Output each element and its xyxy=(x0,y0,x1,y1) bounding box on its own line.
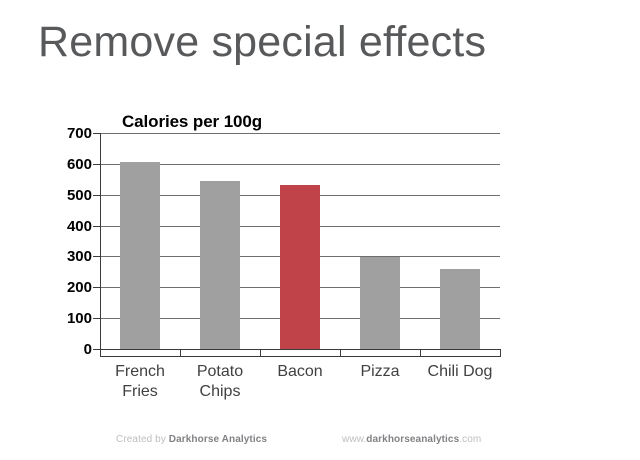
y-axis-tick-label: 600 xyxy=(46,157,92,172)
x-axis-tick xyxy=(100,349,101,357)
x-axis-tick xyxy=(180,349,181,357)
x-axis-tick xyxy=(260,349,261,357)
footer-credit-prefix: Created by xyxy=(116,434,169,445)
footer-credit-brand: Darkhorse Analytics xyxy=(169,434,267,445)
y-axis-tick-label: 700 xyxy=(46,126,92,141)
y-axis-tick-label: 200 xyxy=(46,280,92,295)
bar-series xyxy=(100,133,500,349)
footer-website-suffix: .com xyxy=(459,434,481,445)
x-axis-tick xyxy=(500,349,501,357)
footer-credit: Created by Darkhorse Analytics xyxy=(116,434,267,445)
chart-title: Calories per 100g xyxy=(122,112,262,132)
bar-bacon xyxy=(280,185,320,349)
y-axis-tick-label: 0 xyxy=(46,342,92,357)
bar-french-fries xyxy=(120,162,160,349)
x-axis-labels: FrenchFriesPotatoChipsBaconPizzaChili Do… xyxy=(100,362,500,412)
footer-website-prefix: www. xyxy=(342,434,366,445)
y-axis-tick-label: 300 xyxy=(46,249,92,264)
x-axis-label-potato-chips: PotatoChips xyxy=(180,362,260,402)
bar-chili-dog xyxy=(440,269,480,349)
x-axis-tick xyxy=(340,349,341,357)
y-axis-labels: 0100200300400500600700 xyxy=(46,133,92,349)
bar-potato-chips xyxy=(200,181,240,349)
x-axis-label-bacon: Bacon xyxy=(260,362,340,382)
y-axis-tick-label: 100 xyxy=(46,311,92,326)
y-axis-tick-label: 400 xyxy=(46,219,92,234)
footer-website-brand: darkhorseanalytics xyxy=(366,434,459,445)
gridline xyxy=(100,349,500,350)
footer-website: www.darkhorseanalytics.com xyxy=(342,434,481,445)
x-axis-label-pizza: Pizza xyxy=(340,362,420,382)
x-axis-line xyxy=(100,356,500,357)
bar-chart: Calories per 100g 0100200300400500600700… xyxy=(0,0,640,460)
y-axis-tick-label: 500 xyxy=(46,188,92,203)
x-axis-label-chili-dog: Chili Dog xyxy=(420,362,500,382)
x-axis-tick xyxy=(420,349,421,357)
bar-pizza xyxy=(360,257,400,349)
x-axis-label-french-fries: FrenchFries xyxy=(100,362,180,402)
